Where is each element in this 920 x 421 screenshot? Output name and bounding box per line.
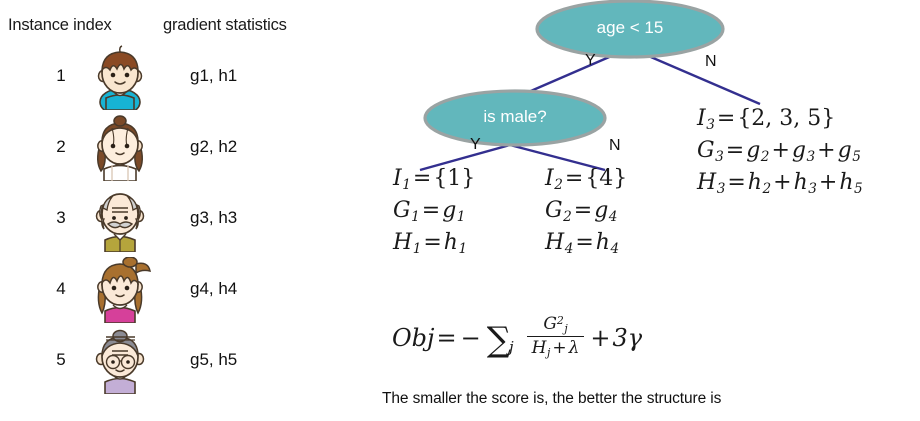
caption-text: The smaller the score is, the better the…	[382, 390, 721, 408]
node-ismale-label: is male?	[425, 107, 605, 127]
row-index: 5	[48, 350, 74, 370]
young-woman-avatar	[86, 257, 154, 323]
leaf-middle-H: H4=h4	[545, 227, 627, 259]
row-index: 4	[48, 279, 74, 299]
table-row: 1 g1, h1	[0, 42, 360, 112]
objective-lhs: Obj	[392, 324, 434, 352]
leaf-right-I: I3={2, 3, 5}	[697, 103, 863, 135]
leaf-right-H: H3=h2+h3+h5	[697, 167, 863, 199]
row-index: 3	[48, 208, 74, 228]
girl-avatar	[86, 115, 154, 181]
fraction-numerator: G2j	[538, 315, 572, 336]
table-row: 3 g3, h3	[0, 184, 360, 254]
objective-plus: +	[588, 324, 612, 352]
leaf-middle-I: I2={4}	[545, 163, 627, 195]
column-header-instance-index: Instance index	[8, 16, 112, 35]
row-gradient-stats: g5, h5	[190, 350, 237, 370]
row-gradient-stats: g3, h3	[190, 208, 237, 228]
edge-label-root-no: N	[705, 53, 717, 71]
row-gradient-stats: g1, h1	[190, 66, 237, 86]
row-gradient-stats: g4, h4	[190, 279, 237, 299]
gamma-symbol: γ	[628, 324, 642, 352]
instance-table: Instance index gradient statistics 1 g1,…	[0, 0, 360, 421]
objective-minus: −	[459, 324, 483, 352]
leaf-right-G: G3=g2+g3+g5	[697, 135, 863, 167]
leaf-left-I: I1={1}	[393, 163, 475, 195]
summation-index: j	[509, 338, 514, 356]
boy-avatar	[86, 44, 154, 110]
table-row: 2 g2, h2	[0, 113, 360, 183]
objective-fraction: G2j Hj+λ	[527, 315, 585, 360]
table-row: 4 g4, h4	[0, 255, 360, 325]
decision-tree-diagram: age < 15 is male? Y N Y N I1={1} G1=g1 H…	[360, 0, 920, 421]
column-header-gradient-statistics: gradient statistics	[163, 16, 287, 35]
old-woman-avatar	[86, 328, 154, 394]
row-index: 1	[48, 66, 74, 86]
edge-label-root-yes: Y	[585, 52, 596, 70]
leaf-stats-right: I3={2, 3, 5} G3=g2+g3+g5 H3=h2+h3+h5	[697, 103, 863, 200]
row-index: 2	[48, 137, 74, 157]
old-man-avatar	[86, 186, 154, 252]
leaf-stats-middle: I2={4} G2=g4 H4=h4	[545, 163, 627, 260]
leaf-left-H: H1=h1	[393, 227, 475, 259]
leaf-left-G: G1=g1	[393, 195, 475, 227]
leaf-stats-left: I1={1} G1=g1 H1=h1	[393, 163, 475, 260]
objective-equals: =	[434, 324, 458, 352]
node-root-label: age < 15	[540, 18, 720, 38]
leaf-middle-G: G2=g4	[545, 195, 627, 227]
edge-label-ismale-no: N	[609, 137, 621, 155]
gamma-coefficient: 3	[612, 324, 627, 352]
edge-label-ismale-yes: Y	[470, 136, 481, 154]
summation-symbol: ∑	[487, 323, 511, 357]
fraction-denominator: Hj+λ	[527, 336, 585, 360]
row-gradient-stats: g2, h2	[190, 137, 237, 157]
table-row: 5 g5, h5	[0, 326, 360, 396]
objective-formula: Obj = − ∑ j G2j Hj+λ + 3γ	[392, 315, 642, 360]
